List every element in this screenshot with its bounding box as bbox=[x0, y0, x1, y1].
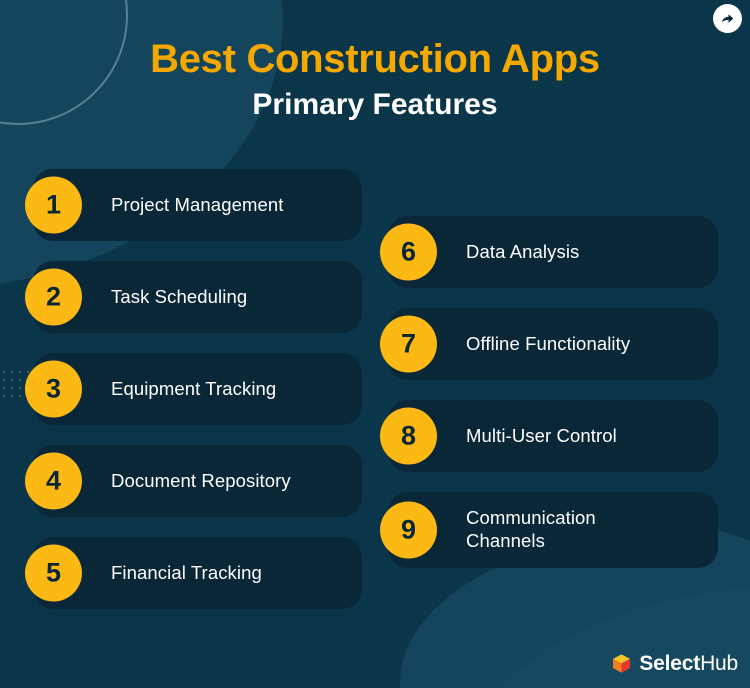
list-item-label: Document Repository bbox=[111, 470, 303, 493]
list-item[interactable]: 7 Offline Functionality bbox=[388, 308, 718, 380]
list-item-label: Communication Channels bbox=[466, 507, 608, 552]
list-item-label: Multi-User Control bbox=[466, 425, 629, 448]
list-item[interactable]: 4 Document Repository bbox=[33, 445, 362, 517]
item-number-badge: 7 bbox=[380, 316, 437, 373]
selecthub-wordmark: SelectHub bbox=[639, 653, 738, 674]
list-item-label: Data Analysis bbox=[466, 241, 591, 264]
item-number-badge: 8 bbox=[380, 408, 437, 465]
item-number-badge: 5 bbox=[25, 545, 82, 602]
logo-bold-text: Select bbox=[639, 652, 700, 675]
list-item-label: Task Scheduling bbox=[111, 286, 259, 309]
list-item-label: Offline Functionality bbox=[466, 333, 642, 356]
list-item[interactable]: 2 Task Scheduling bbox=[33, 261, 362, 333]
list-item[interactable]: 6 Data Analysis bbox=[388, 216, 718, 288]
feature-list-left: 1 Project Management 2 Task Scheduling 3… bbox=[33, 169, 362, 629]
list-item[interactable]: 5 Financial Tracking bbox=[33, 537, 362, 609]
selecthub-logo[interactable]: SelectHub bbox=[611, 653, 738, 674]
infographic-canvas: Best Construction Apps Primary Features … bbox=[0, 0, 750, 688]
logo-light-text: Hub bbox=[700, 652, 738, 675]
item-number-badge: 2 bbox=[25, 269, 82, 326]
page-subtitle: Primary Features bbox=[0, 88, 750, 121]
item-number-badge: 9 bbox=[380, 502, 437, 559]
list-item-label: Financial Tracking bbox=[111, 562, 274, 585]
selecthub-cube-icon bbox=[611, 653, 632, 674]
item-number-badge: 6 bbox=[380, 224, 437, 281]
item-number-badge: 4 bbox=[25, 453, 82, 510]
header: Best Construction Apps Primary Features bbox=[0, 0, 750, 121]
list-item[interactable]: 9 Communication Channels bbox=[388, 492, 718, 568]
list-item-label: Project Management bbox=[111, 194, 296, 217]
list-item-label: Equipment Tracking bbox=[111, 378, 288, 401]
list-item[interactable]: 3 Equipment Tracking bbox=[33, 353, 362, 425]
item-number-badge: 1 bbox=[25, 177, 82, 234]
page-title: Best Construction Apps bbox=[0, 38, 750, 80]
list-item[interactable]: 1 Project Management bbox=[33, 169, 362, 241]
list-item[interactable]: 8 Multi-User Control bbox=[388, 400, 718, 472]
item-number-badge: 3 bbox=[25, 361, 82, 418]
feature-list-right: 6 Data Analysis 7 Offline Functionality … bbox=[388, 216, 718, 588]
